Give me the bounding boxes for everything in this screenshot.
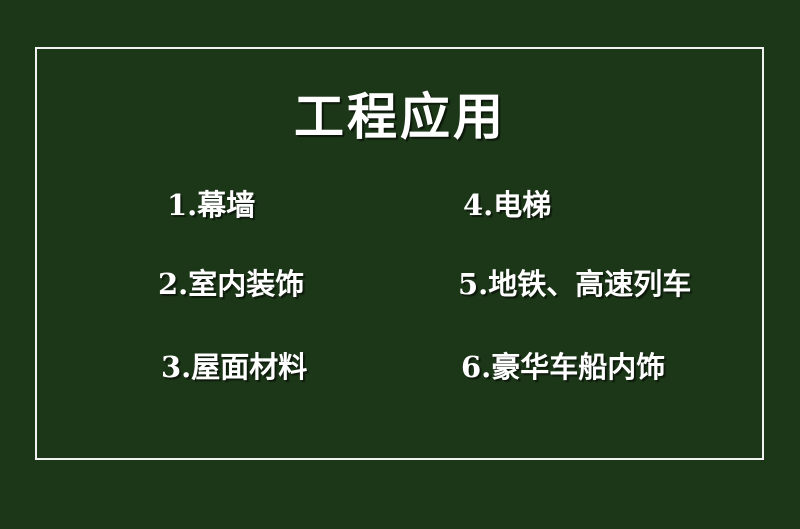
- application-list: 1.幕墙 2.室内装饰 3.屋面材料 4.电梯 5.地铁、高速列车 6.豪华车船…: [0, 188, 800, 408]
- list-item: 1.幕墙: [167, 188, 255, 222]
- list-item: 3.屋面材料: [161, 350, 307, 384]
- list-item: 2.室内装饰: [158, 267, 304, 301]
- list-item: 6.豪华车船内饰: [461, 350, 665, 384]
- list-item: 4.电梯: [463, 188, 551, 222]
- slide-title: 工程应用: [0, 88, 800, 146]
- slide-canvas: 工程应用 1.幕墙 2.室内装饰 3.屋面材料 4.电梯 5.地铁、高速列车 6…: [0, 0, 800, 529]
- list-item: 5.地铁、高速列车: [458, 267, 691, 301]
